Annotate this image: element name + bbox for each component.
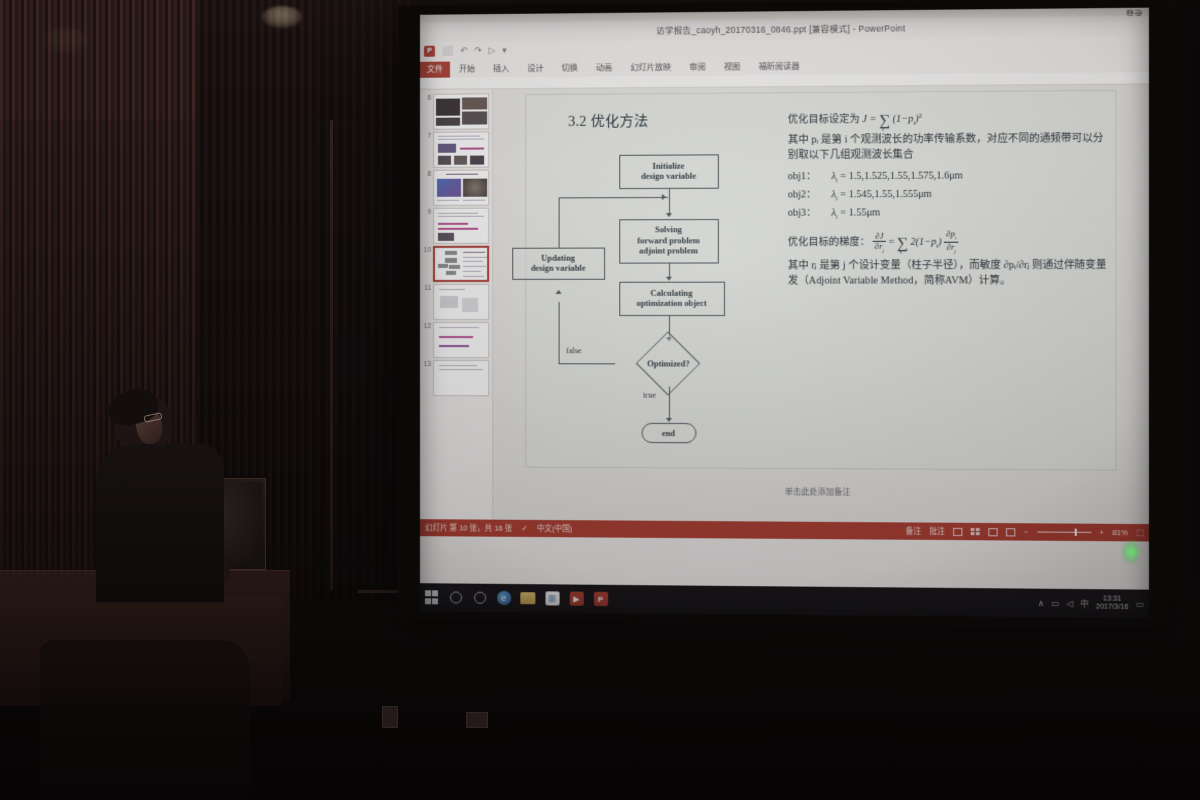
chair [40, 640, 250, 800]
thumbnail-image[interactable] [433, 246, 489, 282]
objective-lead: 优化目标设定为 [788, 114, 860, 126]
list-item[interactable]: 12 [420, 321, 492, 359]
laser-pointer-dot [1122, 540, 1140, 564]
save-icon[interactable]: ⬜ [442, 47, 453, 56]
reading-view-button[interactable] [988, 528, 997, 536]
edge-label-true: true [643, 391, 656, 400]
thumbnail-number: 8 [421, 170, 431, 178]
projection-screen: 登录 访学报告_caoyh_20170316_0846.ppt [兼容模式] -… [398, 0, 1168, 628]
node-label-line2: optimization object [636, 299, 706, 310]
powerpoint-icon[interactable]: P [593, 591, 608, 606]
tab-view[interactable]: 视图 [715, 59, 750, 75]
lecture-room-scene: 登录 访学报告_caoyh_20170316_0846.ppt [兼容模式] -… [0, 0, 1200, 800]
list-item[interactable]: 9 [420, 207, 492, 245]
powerpoint-window: 访学报告_caoyh_20170316_0846.ppt [兼容模式] - Po… [420, 16, 1149, 590]
list-item[interactable]: 7 [420, 130, 492, 168]
status-bar-right: 备注 批注 − + 81% ⬚ [906, 525, 1144, 538]
objective-formula: J = ∑ i (1−pi)2 [862, 114, 922, 126]
objective-label: obj1： [788, 169, 829, 186]
ime-icon[interactable]: 中 [1080, 598, 1088, 609]
thumbnail-number: 9 [421, 208, 431, 216]
objective-set-1: obj1： λi = 1.5,1.525,1.55,1.575,1.6μm [788, 168, 1109, 187]
paragraph-avm: 其中 rⱼ 是第 j 个设计变量（柱子半径），而敏度 ∂pᵢ/∂rⱼ 则通过伴随… [788, 259, 1109, 289]
wall-outlet [466, 712, 488, 728]
clock[interactable]: 13:31 2017/3/16 [1096, 596, 1129, 612]
normal-view-button[interactable] [953, 527, 962, 535]
connector-false [558, 363, 615, 364]
tab-file[interactable]: 文件 [420, 62, 450, 78]
thumbnail-number: 13 [421, 360, 431, 368]
list-item[interactable]: 13 [420, 359, 492, 397]
thumbnail-number: 11 [421, 284, 431, 292]
start-button[interactable] [424, 590, 439, 605]
cortana-icon[interactable] [472, 590, 487, 605]
objective-value: 1.545,1.55,1.555μm [849, 189, 932, 200]
volume-icon[interactable]: ◁ [1066, 599, 1072, 608]
flowchart-node-solving: Solving forward problem adjoint problem [619, 219, 719, 264]
node-label-line1: Updating [541, 253, 575, 264]
slideshow-button[interactable] [1006, 528, 1015, 536]
edge-icon[interactable]: e [496, 590, 511, 605]
zoom-in-button[interactable]: + [1099, 528, 1104, 537]
objective-value: 1.55μm [849, 207, 881, 218]
node-label-line2: design variable [531, 264, 586, 275]
show-hidden-icons-icon[interactable]: ∧ [1038, 598, 1044, 607]
thumbnail-number: 6 [421, 94, 431, 102]
window-title: 访学报告_caoyh_20170316_0846.ppt [兼容模式] - Po… [656, 22, 905, 36]
slide-text-column: 优化目标设定为 J = ∑ i (1− [788, 109, 1109, 295]
paragraph-transmission: 其中 pᵢ 是第 i 个观测波长的功率传输系数，对应不同的通频带可以分别取以下几… [788, 132, 1109, 163]
network-icon[interactable]: ▭ [1051, 599, 1059, 608]
node-label-line2: design variable [641, 172, 696, 183]
arrow-icon [665, 213, 671, 217]
formula-eq: = [869, 114, 876, 125]
search-icon[interactable] [448, 590, 463, 605]
node-label-line1: Solving [655, 225, 682, 236]
slide-sorter-button[interactable] [971, 527, 980, 535]
connector [668, 264, 669, 278]
tab-foxit-reader[interactable]: 福昕阅读器 [749, 59, 808, 76]
connector-false-up [558, 302, 559, 363]
tab-insert[interactable]: 插入 [484, 61, 518, 77]
arrow-icon [661, 194, 665, 200]
redo-icon[interactable]: ↷ [474, 47, 481, 56]
flowchart-node-end: end [641, 423, 696, 443]
gradient-rhs-fraction: ∂pi ∂rj [944, 230, 958, 255]
list-item-selected[interactable]: 10 [420, 245, 492, 283]
objective-label: obj2： [788, 187, 829, 204]
gradient-line: 优化目标的梯度： ∂J ∂rj = ∑ i [788, 230, 1109, 256]
objective-value: 1.5,1.525,1.55,1.575,1.6μm [849, 171, 963, 183]
ppt-icon[interactable]: P [424, 46, 435, 57]
tab-review[interactable]: 审阅 [680, 59, 715, 75]
edge-label-false: false [566, 346, 581, 355]
thumbnail-image[interactable] [433, 322, 489, 358]
thumbnail-image[interactable] [433, 360, 489, 396]
node-label-line2: forward problem [637, 236, 700, 247]
flowchart: Initialize design variable Solving [536, 138, 790, 462]
objective-set-3: obj3： λi = 1.55μm [788, 204, 1109, 223]
customize-qat-icon[interactable]: ▾ [502, 46, 506, 55]
slide-editing-area[interactable]: 3.2 优化方法 Initialize design variable [493, 84, 1149, 524]
presenter-body [96, 444, 224, 602]
connector [558, 197, 667, 198]
objective-line: 优化目标设定为 J = ∑ i (1− [788, 109, 1109, 130]
current-slide[interactable]: 3.2 优化方法 Initialize design variable [525, 90, 1116, 471]
thumbnail-image[interactable] [433, 93, 489, 129]
projected-desktop: 登录 访学报告_caoyh_20170316_0846.ppt [兼容模式] -… [420, 8, 1149, 619]
undo-icon[interactable]: ↶ [460, 47, 467, 56]
thumbnail-image[interactable] [433, 208, 489, 244]
clock-date: 2017/3/16 [1096, 604, 1129, 612]
zoom-level[interactable]: 81% [1112, 528, 1128, 537]
node-label-line1: end [662, 428, 675, 437]
fit-slide-icon[interactable]: ⬚ [1136, 528, 1143, 537]
summation-icon: ∑ i [897, 239, 908, 250]
editor-body: 6 7 [420, 84, 1149, 524]
zoom-out-button[interactable]: − [1024, 527, 1029, 536]
gradient-coefficient: 2(1−pi) [910, 237, 941, 248]
spellcheck-icon[interactable]: ✓ [521, 524, 527, 533]
notes-pane[interactable]: 单击此处添加备注 [525, 473, 1116, 511]
objective-label: obj3： [788, 205, 829, 222]
movies-icon[interactable]: ▶ [569, 591, 584, 606]
list-item[interactable]: 8 [420, 169, 492, 207]
thumbnail-image[interactable] [433, 170, 489, 206]
list-item[interactable]: 11 [420, 283, 492, 321]
presenter [96, 392, 226, 602]
node-label-line3: adjoint problem [639, 247, 698, 258]
zoom-slider-handle[interactable] [1074, 529, 1076, 536]
arrow-icon [665, 277, 671, 281]
sum-index: i [882, 128, 884, 132]
objective-set-2: obj2： λi = 1.545,1.55,1.555μm [788, 186, 1109, 205]
wall-outlet [382, 706, 398, 728]
slide-counter[interactable]: 幻灯片 第 10 张，共 16 张 [425, 522, 512, 534]
wall-cable [330, 120, 333, 590]
action-center-icon[interactable]: ▭ [1136, 599, 1144, 608]
thumbnail-image[interactable] [433, 284, 489, 320]
notes-placeholder[interactable]: 单击此处添加备注 [785, 486, 851, 498]
system-tray: ∧ ▭ ◁ 中 13:31 2017/3/16 ▭ [1038, 595, 1149, 611]
slide-title: 3.2 优化方法 [568, 110, 648, 131]
tab-design[interactable]: 设计 [518, 61, 552, 77]
flowchart-node-updating: Updating design variable [512, 248, 605, 280]
tab-slideshow[interactable]: 幻灯片放映 [621, 60, 680, 77]
store-icon[interactable]: ⊞ [544, 591, 559, 606]
projection-surface: 登录 访学报告_caoyh_20170316_0846.ppt [兼容模式] -… [420, 8, 1149, 619]
arrow-icon [555, 290, 561, 294]
comments-button[interactable]: 批注 [929, 526, 945, 537]
summation-icon: ∑ i [879, 116, 890, 127]
tab-home[interactable]: 开始 [450, 61, 484, 77]
sum-index: i [900, 251, 902, 255]
slide-thumbnail-pane[interactable]: 6 7 [420, 89, 493, 519]
connector-true [668, 387, 669, 419]
flowchart-node-calculating: Calculating optimization object [619, 282, 725, 316]
slideshow-icon[interactable]: ▷ [489, 46, 496, 55]
file-explorer-icon[interactable] [520, 591, 535, 606]
gradient-lead: 优化目标的梯度： [788, 237, 870, 248]
flowchart-node-init: Initialize design variable [619, 154, 719, 189]
windows-taskbar: e ⊞ ▶ P ∧ ▭ ◁ 中 [420, 583, 1149, 618]
connector [558, 197, 559, 247]
thumbnail-number: 12 [421, 322, 431, 330]
zoom-slider[interactable] [1037, 531, 1091, 532]
thumbnail-number: 10 [421, 246, 431, 254]
arrow-icon [665, 418, 671, 422]
tab-transitions[interactable]: 切换 [553, 60, 587, 76]
connector [668, 189, 669, 213]
thumbnail-number: 7 [421, 132, 431, 140]
flowchart-node-optimized: Optimized? [614, 340, 724, 387]
node-label-line1: Optimized? [614, 340, 724, 387]
node-label-line1: Calculating [650, 288, 692, 299]
gradient-lhs-fraction: ∂J ∂rj [873, 232, 886, 254]
list-item[interactable]: 6 [420, 92, 492, 131]
tab-animations[interactable]: 动画 [587, 60, 621, 76]
language-indicator[interactable]: 中文(中国) [537, 523, 572, 534]
status-bar: 幻灯片 第 10 张，共 16 张 ✓ 中文(中国) 备注 批注 − [420, 519, 1149, 541]
notes-button[interactable]: 备注 [906, 525, 921, 536]
node-label-line1: Initialize [652, 161, 684, 172]
thumbnail-image[interactable] [433, 131, 489, 167]
formula-lhs: J [862, 114, 867, 125]
